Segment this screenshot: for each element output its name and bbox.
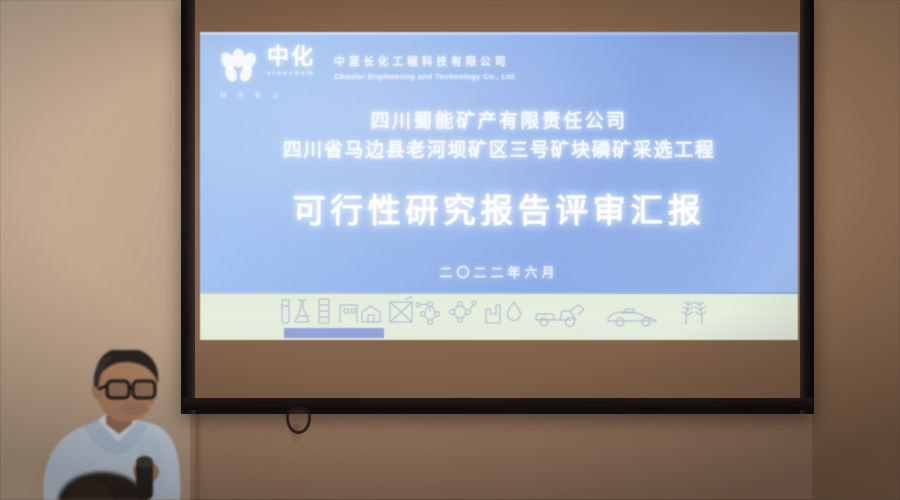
company-name-cn: 中蓝长化工程科技有限公司 [334,53,517,69]
band-accent-bar [284,328,384,338]
screen-frame-right-bar [800,0,813,414]
slide-logo-block: 中化 sinochem 中蓝长化工程科技有限公司 Chanfar Enginee… [218,44,517,87]
slide-title-block: 四川蜀能矿产有限责任公司 四川省马边县老河坝矿区三号矿块磷矿采选工程 [200,108,798,166]
distillation-tower-icon [319,299,329,323]
screen-frame-bottom-bar [183,398,813,410]
wall-right-panel [812,0,900,500]
slide-headline: 可行性研究报告评审汇报 [200,184,798,232]
slide-date: 二〇二二年六月 [200,262,798,281]
brand-motto: 科 学 至 上 [220,89,283,99]
wheat-stalk-icon [683,302,706,324]
presentation-slide: 中化 sinochem 中蓝长化工程科技有限公司 Chanfar Enginee… [200,32,798,340]
conical-flask-icon [295,300,309,322]
test-tube-icon [282,300,289,324]
warehouse-icon [362,306,380,322]
slide-footer-band [200,292,798,340]
slide-subtitle-line-2: 四川省马边县老河坝矿区三号矿块磷矿采选工程 [200,136,798,166]
gas-canister-icon [390,297,412,322]
brand-name-en: sinochem [267,70,315,77]
plant-building-icon [486,305,500,323]
audience-person-head [40,462,170,500]
car-icon [608,309,656,326]
slide-subtitle-line-1: 四川蜀能矿产有限责任公司 [200,108,798,136]
company-name-en: Chanfar Engineering and Technology Co., … [334,72,517,81]
factory-building-icon [340,305,357,322]
tractor-icon [536,305,584,327]
molecule-icon [416,302,439,325]
brand-name-cn: 中化 [267,46,315,68]
company-text-column: 中蓝长化工程科技有限公司 Chanfar Engineering and Tec… [334,44,517,81]
brand-text-column: 中化 sinochem [267,44,315,77]
sinochem-leaf-logo-icon [218,45,260,87]
molecule-branch-icon [450,301,476,322]
screenshot-scene: 中化 sinochem 中蓝长化工程科技有限公司 Chanfar Enginee… [0,0,900,500]
slide-top-edge [200,32,798,35]
band-top-edge [200,292,798,294]
water-droplet-icon [508,302,521,321]
